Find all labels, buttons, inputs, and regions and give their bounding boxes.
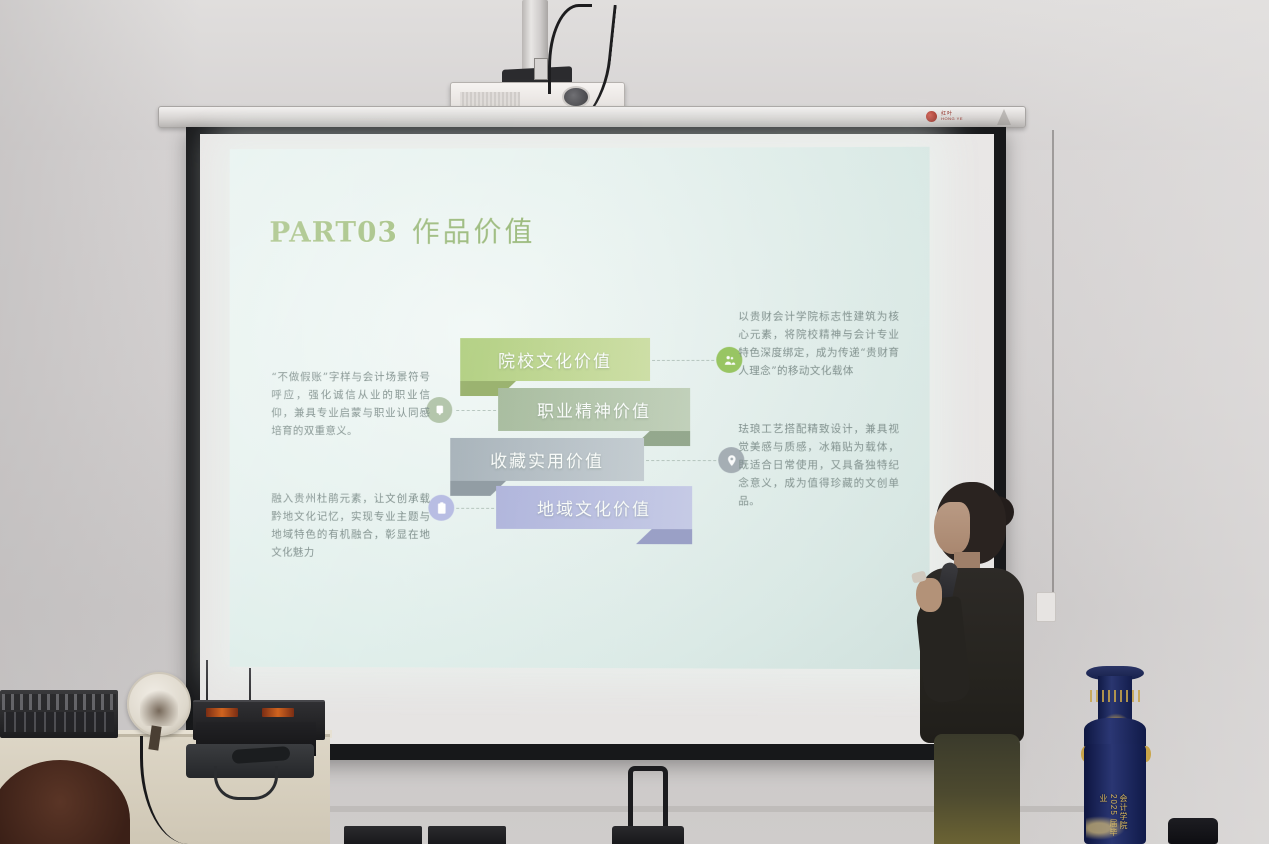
classroom-scene: 红叶 HONG YE PART03 作品价值 院校文化价值 职业精神价值 收藏实… <box>0 0 1269 844</box>
screen-brand-logo: 红叶 HONG YE <box>926 111 963 122</box>
presenter <box>898 476 1048 844</box>
suitcase-handle[interactable] <box>628 766 668 828</box>
slide-title: PART03 作品价值 <box>269 210 535 251</box>
ribbon-item-3: 收藏实用价值 <box>450 438 644 481</box>
speaker-box-left <box>344 826 422 844</box>
vase-dragon-motif <box>1086 814 1130 842</box>
connector-line-2 <box>456 410 496 411</box>
projection-screen-housing[interactable]: 红叶 HONG YE <box>158 106 1026 128</box>
connector-line-1 <box>652 360 714 361</box>
presenter-hand <box>916 578 942 612</box>
description-right-top: 以贵财会计学院标志性建筑为核心元素，将院校精神与会计专业特色深度绑定，成为传递“… <box>738 308 899 380</box>
amp-led-right <box>262 708 294 717</box>
clipboard-icon <box>428 495 454 521</box>
amp-led-left <box>206 708 238 717</box>
description-right-bottom: 珐琅工艺搭配精致设计，兼具视觉美感与质感，冰箱贴为载体，既适合日常使用，又具备独… <box>738 420 899 510</box>
ribbon-item-4: 地域文化价值 <box>496 486 692 529</box>
ribbon-label-4: 地域文化价值 <box>496 495 692 520</box>
mixer-faders[interactable] <box>4 712 114 732</box>
vase-gold-band <box>1090 690 1140 702</box>
large-blue-porcelain-vase: 会计学院 2025 届毕业 <box>1076 666 1156 844</box>
description-left-bottom: 融入贵州杜鹃元素，让文创承载黔地文化记忆，实现专业主题与地域特色的有机融合，彰显… <box>271 490 430 562</box>
ribbon-label-3: 收藏实用价值 <box>450 447 644 472</box>
brand-mark-icon <box>926 111 937 122</box>
speaker-box-right <box>428 826 506 844</box>
slide-part-label: PART03 <box>269 215 397 248</box>
slide-heading: 作品价值 <box>412 210 536 250</box>
connector-line-4 <box>456 508 494 509</box>
mixer-knobs[interactable] <box>2 694 116 710</box>
projected-slide: PART03 作品价值 院校文化价值 职业精神价值 收藏实用价值 地域文化价值 <box>230 147 930 670</box>
rolling-suitcase <box>612 826 684 844</box>
ribbon-label-2: 职业精神价值 <box>498 397 690 422</box>
decorative-plate-artwork <box>140 688 178 726</box>
wall-cable <box>1052 130 1054 600</box>
presenter-legs <box>934 734 1020 844</box>
housing-triangle-icon <box>997 109 1011 125</box>
small-dark-pot <box>1168 818 1218 844</box>
ribbon-item-2: 职业精神价值 <box>498 388 690 431</box>
brand-name-en: HONG YE <box>941 117 963 121</box>
laptop-bag-handle <box>214 766 278 800</box>
presenter-face <box>934 502 970 554</box>
ribbon-label-1: 院校文化价值 <box>460 347 650 372</box>
connector-line-3 <box>646 460 716 461</box>
ribbon-item-1: 院校文化价值 <box>460 338 650 381</box>
description-left-top: “不做假账”字样与会计场景符号呼应，强化诚信从业的职业信仰，兼具专业启蒙与职业认… <box>271 368 430 440</box>
